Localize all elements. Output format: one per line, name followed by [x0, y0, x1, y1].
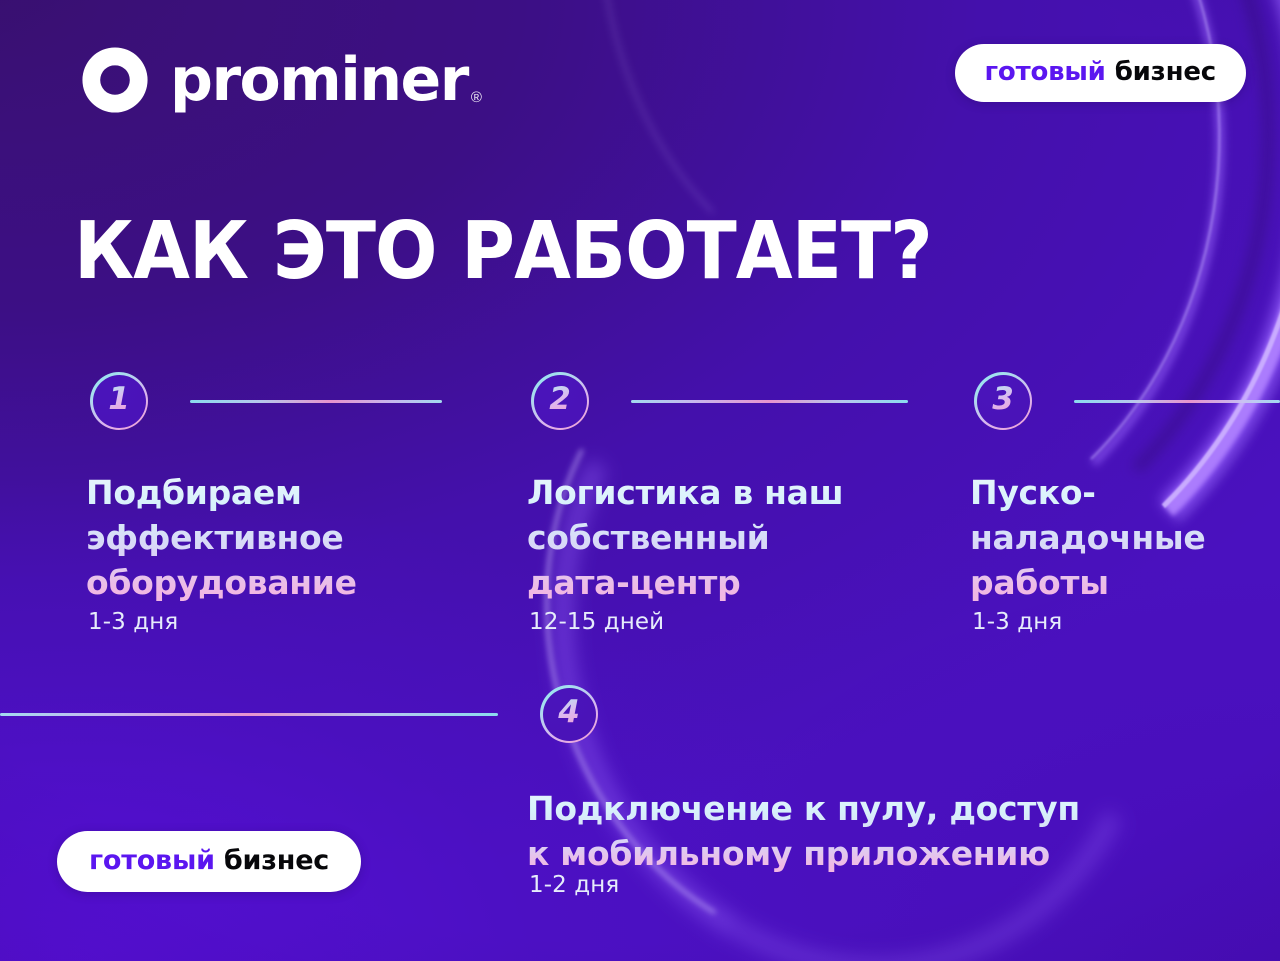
step-1-number: 1 — [108, 384, 130, 418]
brand-wordmark: prominer ® — [170, 50, 482, 110]
step-4-number: 4 — [558, 697, 580, 731]
registered-mark: ® — [471, 90, 482, 105]
badge-accent-text: готовый — [89, 845, 215, 876]
step-1-title: Подбираем эффективное оборудование — [86, 471, 506, 606]
step-2-header: 2 — [531, 372, 961, 430]
step-1-duration: 1-3 дня — [88, 611, 178, 634]
step-3-header: 3 — [974, 372, 1280, 430]
step-4-connector-line — [0, 713, 498, 716]
step-4-title: Подключение к пулу, доступ к мобильному … — [527, 787, 1187, 877]
brand-name: prominer — [170, 50, 468, 110]
step-4-header: 4 — [0, 685, 598, 743]
step-4-number-badge: 4 — [540, 685, 598, 743]
prominer-ring-logo-icon — [78, 43, 152, 117]
badge-ready-business-top[interactable]: готовый бизнес — [955, 44, 1246, 102]
step-3-duration: 1-3 дня — [972, 611, 1062, 634]
step-2-connector-line — [631, 400, 908, 403]
badge-dark-text: бизнес — [1115, 57, 1216, 87]
step-1-header: 1 — [90, 372, 502, 430]
step-1-connector-line — [190, 400, 442, 403]
step-3-connector-line — [1074, 400, 1280, 403]
step-3-number: 3 — [992, 384, 1014, 418]
badge-dark-text: бизнес — [224, 845, 329, 876]
step-3-title: Пуско- наладочные работы — [970, 471, 1280, 606]
step-2-duration: 12-15 дней — [529, 611, 664, 634]
step-4-duration: 1-2 дня — [529, 874, 619, 897]
step-1-number-badge: 1 — [90, 372, 148, 430]
badge-accent-text: готовый — [985, 57, 1106, 87]
page-title: КАК ЭТО РАБОТАЕТ? — [74, 212, 932, 291]
promo-banner: prominer ® готовый бизнес КАК ЭТО РАБОТА… — [0, 0, 1280, 961]
step-2-number: 2 — [549, 384, 571, 418]
brand-logo[interactable]: prominer ® — [78, 43, 482, 117]
step-2-number-badge: 2 — [531, 372, 589, 430]
badge-ready-business-bottom[interactable]: готовый бизнес — [57, 831, 361, 892]
step-3-number-badge: 3 — [974, 372, 1032, 430]
step-2-title: Логистика в наш собственный дата-центр — [527, 471, 967, 606]
